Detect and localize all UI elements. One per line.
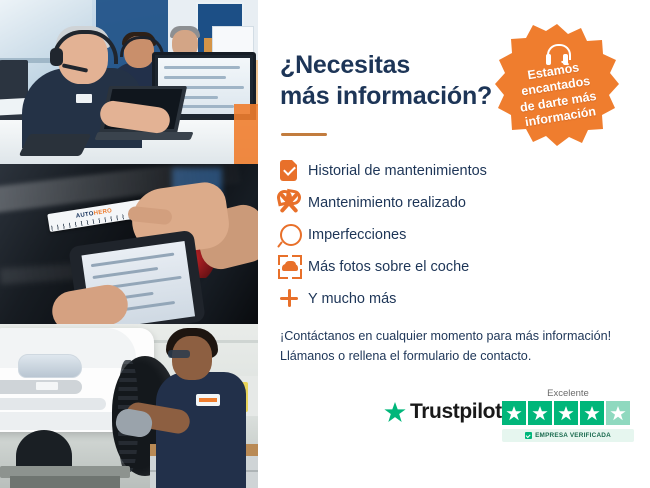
agent-one-earcup	[50, 48, 63, 66]
laptop-base	[94, 132, 193, 140]
car-lift-base	[10, 476, 120, 488]
support-badge: Estamos encantados de darte más informac…	[495, 22, 619, 146]
list-item: Imperfecciones	[274, 219, 624, 251]
feature-label: Más fotos sobre el coche	[308, 259, 469, 275]
mechanic-head	[172, 336, 212, 380]
car-grille-lower	[0, 398, 106, 410]
star-tile	[528, 401, 552, 425]
verified-business-badge: EMPRESA VERIFICADA	[502, 429, 634, 442]
mechanic-badge	[196, 394, 220, 406]
trustpilot-rating: Trustpilot Excelente EMPRESA VERIFICADA	[384, 388, 634, 450]
plus-icon	[274, 283, 308, 315]
title-divider	[281, 133, 327, 136]
star-tile	[502, 401, 526, 425]
trustpilot-wordmark: Trustpilot	[410, 400, 502, 424]
star-rating	[502, 401, 634, 425]
feature-label: Imperfecciones	[308, 227, 406, 243]
trustpilot-logo: Trustpilot	[384, 400, 502, 424]
feature-list: Historial de mantenimientos Mantenimient…	[274, 155, 624, 315]
vehicle-inspection-ruler-tablet-photo: AUTOHERO	[0, 164, 258, 324]
contact-paragraph-line-2: Llámanos o rellena el formulario de cont…	[280, 346, 650, 366]
magnifier-icon	[274, 219, 308, 251]
rating-label: Excelente	[502, 388, 634, 399]
contact-paragraph-line-1: ¡Contáctanos en cualquier momento para m…	[280, 326, 650, 346]
car-photo-frame-icon	[274, 251, 308, 283]
feature-label: Mantenimiento realizado	[308, 195, 466, 211]
safety-glasses-icon	[168, 350, 190, 358]
trustpilot-star-icon	[384, 402, 406, 423]
call-center-agents-photo	[0, 0, 258, 164]
list-item: Historial de mantenimientos	[274, 155, 624, 187]
star-tile	[580, 401, 604, 425]
photo-collage: AUTOHERO	[0, 0, 258, 488]
star-tile-partial	[606, 401, 630, 425]
agent-one-badge	[76, 94, 92, 103]
car-plate	[36, 382, 58, 390]
check-square-icon	[525, 432, 532, 439]
content-panel: ¿Necesitas más información? Estamos enca…	[258, 0, 650, 488]
list-item: Y mucho más	[274, 283, 624, 315]
feature-label: Y mucho más	[308, 291, 396, 307]
contact-paragraph: ¡Contáctanos en cualquier momento para m…	[280, 326, 650, 367]
document-check-icon	[274, 155, 308, 187]
list-item: Más fotos sobre el coche	[274, 251, 624, 283]
trustpilot-score: Excelente EMPRESA VERIFICADA	[502, 388, 634, 442]
verified-label: EMPRESA VERIFICADA	[535, 432, 611, 439]
mechanic-tire-inspection-photo	[0, 324, 258, 488]
feature-label: Historial de mantenimientos	[308, 163, 487, 179]
star-tile	[554, 401, 578, 425]
desk-tablet	[19, 134, 92, 156]
information-banner: AUTOHERO	[0, 0, 650, 488]
tools-cross-icon	[274, 187, 308, 219]
car-headlight	[18, 354, 82, 378]
list-item: Mantenimiento realizado	[274, 187, 624, 219]
orange-equipment	[234, 104, 258, 164]
